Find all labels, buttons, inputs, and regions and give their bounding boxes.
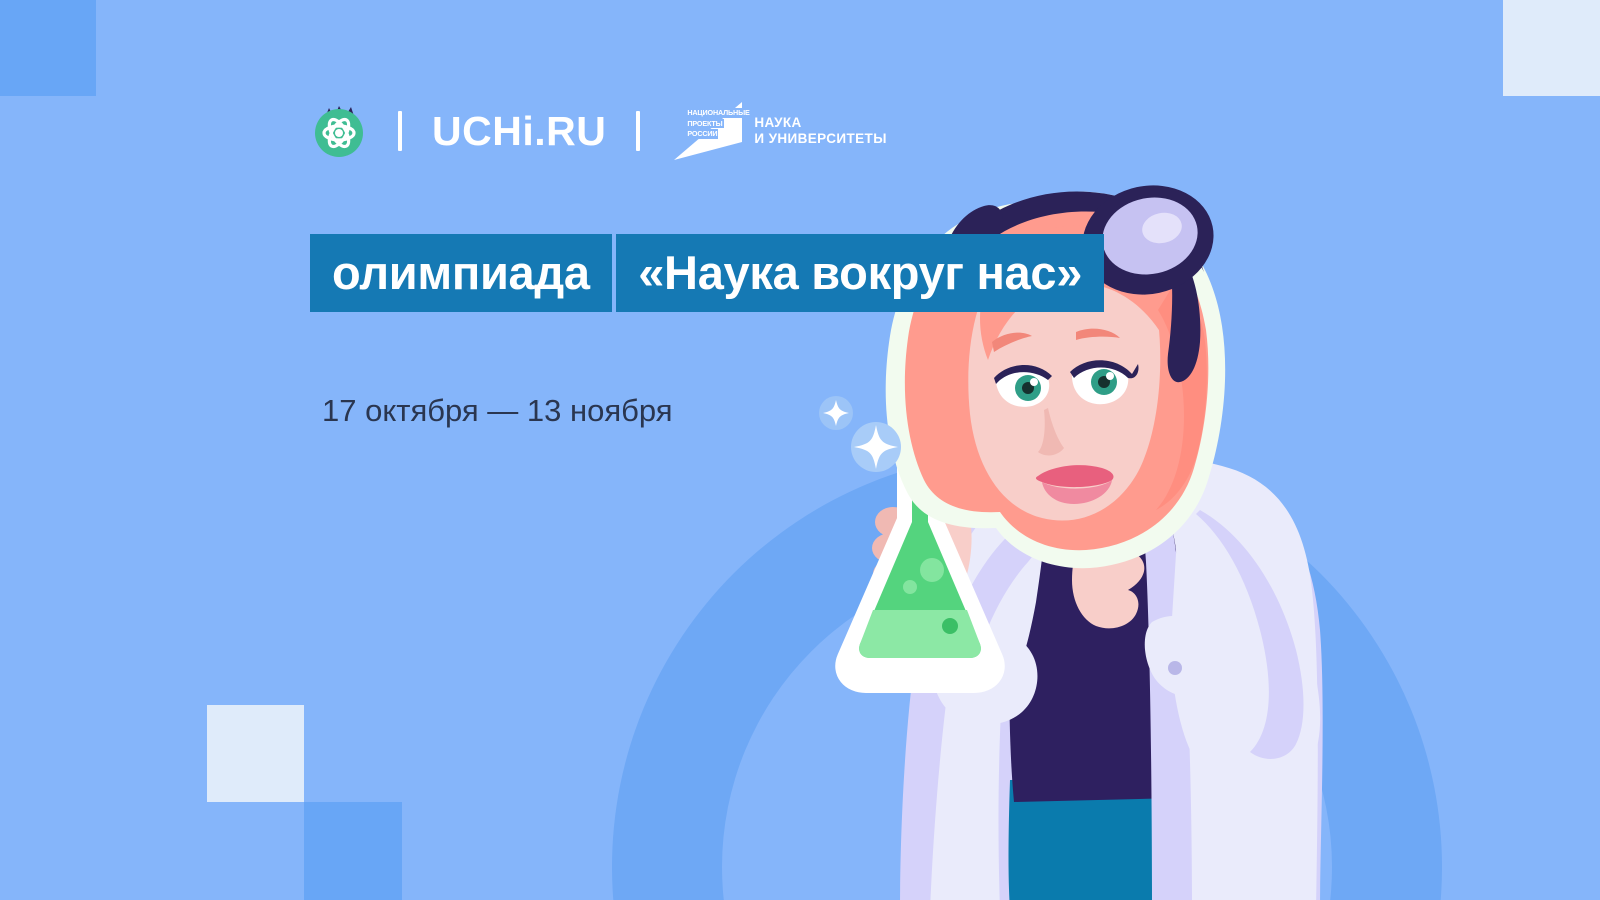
decorative-square-bottom-left-dark: [304, 802, 402, 900]
logo-separator-1: [398, 111, 402, 151]
np-flag-line-1: НАЦИОНАЛЬНЫЕ: [686, 108, 750, 118]
decorative-square-bottom-left-light: [207, 705, 304, 802]
decorative-square-top-left: [0, 0, 96, 96]
np-title-line-2: И УНИВЕРСИТЕТЫ: [754, 131, 887, 147]
sparkle-group: [800, 385, 930, 525]
event-dates: 17 октября — 13 ноября: [322, 392, 673, 429]
national-projects-lockup[interactable]: НАЦИОНАЛЬНЫЕ ПРОЕКТЫ РОССИИ НАУКА И УНИВ…: [670, 100, 887, 162]
sparkle-icon: [851, 422, 901, 472]
headline-line-1: олимпиада: [310, 234, 612, 312]
sparkle-icon: [819, 396, 853, 430]
atom-circle-icon[interactable]: [310, 102, 368, 160]
headline-group: олимпиада «Наука вокруг нас»: [310, 228, 1104, 312]
np-flag-line-3: РОССИИ: [686, 129, 718, 139]
olympiad-promo-banner: UCHi.RU НАЦИОНАЛЬНЫЕ ПРОЕКТЫ РОССИИ НАУК…: [0, 0, 1600, 900]
headline-line-2: «Наука вокруг нас»: [616, 234, 1104, 312]
logo-lockup: UCHi.RU НАЦИОНАЛЬНЫЕ ПРОЕКТЫ РОССИИ НАУК…: [310, 100, 887, 162]
logo-separator-2: [636, 111, 640, 151]
national-projects-title: НАУКА И УНИВЕРСИТЕТЫ: [754, 115, 887, 147]
uchi-wordmark[interactable]: UCHi.RU: [432, 111, 606, 152]
cuff-button: [1168, 661, 1182, 675]
decorative-square-top-right: [1503, 0, 1600, 96]
national-projects-flag-icon: НАЦИОНАЛЬНЫЕ ПРОЕКТЫ РОССИИ: [670, 100, 742, 162]
np-flag-line-2: ПРОЕКТЫ: [686, 119, 723, 129]
np-title-line-1: НАУКА: [754, 115, 887, 131]
